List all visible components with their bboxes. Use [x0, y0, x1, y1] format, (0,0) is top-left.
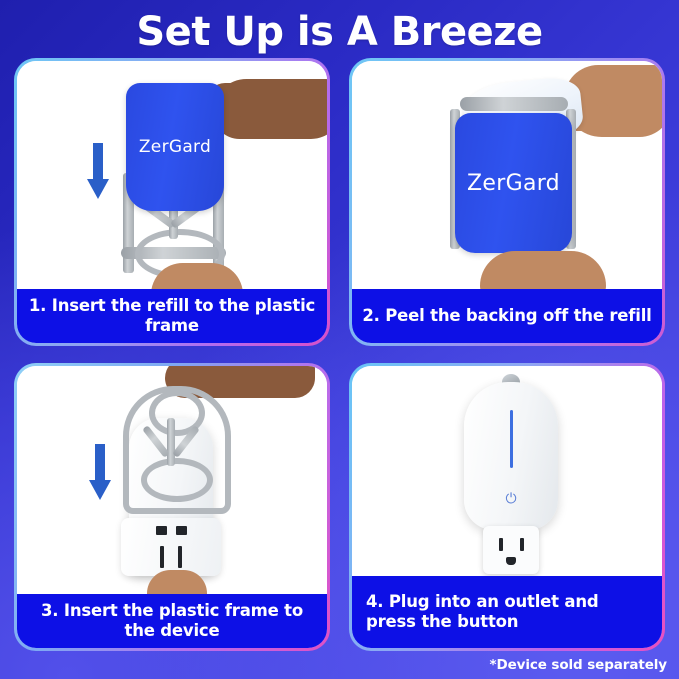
step-4-image: ⏻: [352, 366, 662, 576]
plug-blade-right: [178, 546, 182, 568]
outlet-ground-hole: [506, 557, 516, 565]
frame-top-cap: [460, 97, 568, 111]
step-card-1: ZerGard 1. Insert the refill to the plas…: [14, 58, 330, 346]
outlet-slot-left: [499, 538, 503, 551]
wall-outlet: [483, 526, 539, 574]
footnote-disclaimer: *Device sold separately: [490, 657, 667, 673]
device-socket-right: [176, 526, 187, 535]
step-1-caption: 1. Insert the refill to the plastic fram…: [17, 289, 327, 343]
refill-pouch: ZerGard: [455, 113, 572, 253]
steps-grid: ZerGard 1. Insert the refill to the plas…: [14, 58, 665, 651]
power-button[interactable]: ⏻: [501, 488, 521, 508]
step-2-image: ZerGard: [352, 61, 662, 289]
plug-blade-left: [160, 546, 164, 568]
step-2-caption: 2. Peel the backing off the refill: [352, 289, 662, 343]
device-socket-left: [156, 526, 167, 535]
led-indicator: [510, 410, 513, 468]
infographic-root: Set Up is A Breeze: [0, 0, 679, 679]
refill-pouch: ZerGard: [126, 83, 224, 211]
step-4-caption: 4. Plug into an outlet and press the but…: [352, 576, 662, 648]
step-card-3: 3. Insert the plastic frame to the devic…: [14, 363, 330, 651]
page-title: Set Up is A Breeze: [0, 6, 679, 58]
pouch-brand-label: ZerGard: [467, 171, 560, 196]
step-card-4: ⏻ 4. Plug into an outlet and press the b…: [349, 363, 665, 651]
step-card-2: ZerGard 2. Peel the backing off the refi…: [349, 58, 665, 346]
outlet-slot-right: [520, 538, 524, 551]
hand-bottom: [480, 251, 606, 289]
step-1-image: ZerGard: [17, 61, 327, 289]
frame-spine: [167, 418, 175, 466]
step-3-caption: 3. Insert the plastic frame to the devic…: [17, 594, 327, 648]
pouch-brand-label: ZerGard: [139, 137, 211, 157]
device-base-plate: [121, 518, 221, 576]
step-3-image: [17, 366, 327, 594]
frame-inner-oval-bottom: [141, 458, 213, 502]
